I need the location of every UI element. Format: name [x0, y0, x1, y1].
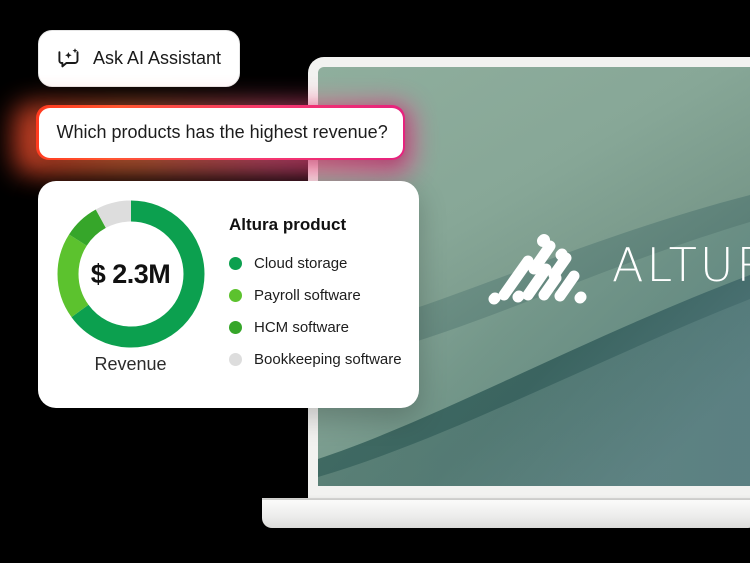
legend-dot-bookkeeping-software — [229, 353, 242, 366]
legend-label-bookkeeping-software: Bookkeeping software — [254, 351, 402, 368]
legend-item-cloud-storage[interactable]: Cloud storage — [229, 247, 419, 279]
laptop-base — [262, 500, 750, 528]
legend-item-bookkeeping-software[interactable]: Bookkeeping software — [229, 343, 419, 375]
legend-section: Altura product Cloud storage Payroll sof… — [223, 181, 419, 408]
altura-brand-lockup: ALTUR — [488, 225, 750, 305]
legend-label-payroll-software: Payroll software — [254, 287, 361, 304]
revenue-chart-card: $ 2.3M Revenue Altura product Cloud stor… — [38, 181, 419, 408]
question-input[interactable]: Which products has the highest revenue? — [36, 105, 405, 160]
legend-label-hcm-software: HCM software — [254, 319, 349, 336]
donut-chart: $ 2.3M — [57, 200, 205, 348]
altura-logo-mark-icon — [488, 225, 598, 305]
brand-wordmark: ALTUR — [612, 242, 750, 288]
question-text: Which products has the highest revenue? — [57, 122, 388, 143]
ask-ai-assistant-button[interactable]: Ask AI Assistant — [38, 30, 240, 87]
donut-label: Revenue — [94, 354, 166, 375]
legend-dot-payroll-software — [229, 289, 242, 302]
screenshot-root: ALTUR Ask AI Assistant Which products ha… — [0, 0, 750, 563]
legend-title: Altura product — [229, 215, 419, 235]
legend-dot-hcm-software — [229, 321, 242, 334]
legend-item-payroll-software[interactable]: Payroll software — [229, 279, 419, 311]
ai-chat-sparkle-icon — [57, 47, 81, 71]
ask-ai-assistant-label: Ask AI Assistant — [93, 48, 221, 69]
legend-label-cloud-storage: Cloud storage — [254, 255, 347, 272]
question-input-inner: Which products has the highest revenue? — [39, 108, 403, 158]
legend-item-hcm-software[interactable]: HCM software — [229, 311, 419, 343]
donut-section: $ 2.3M Revenue — [38, 181, 223, 408]
donut-center-value: $ 2.3M — [57, 200, 205, 348]
legend-dot-cloud-storage — [229, 257, 242, 270]
